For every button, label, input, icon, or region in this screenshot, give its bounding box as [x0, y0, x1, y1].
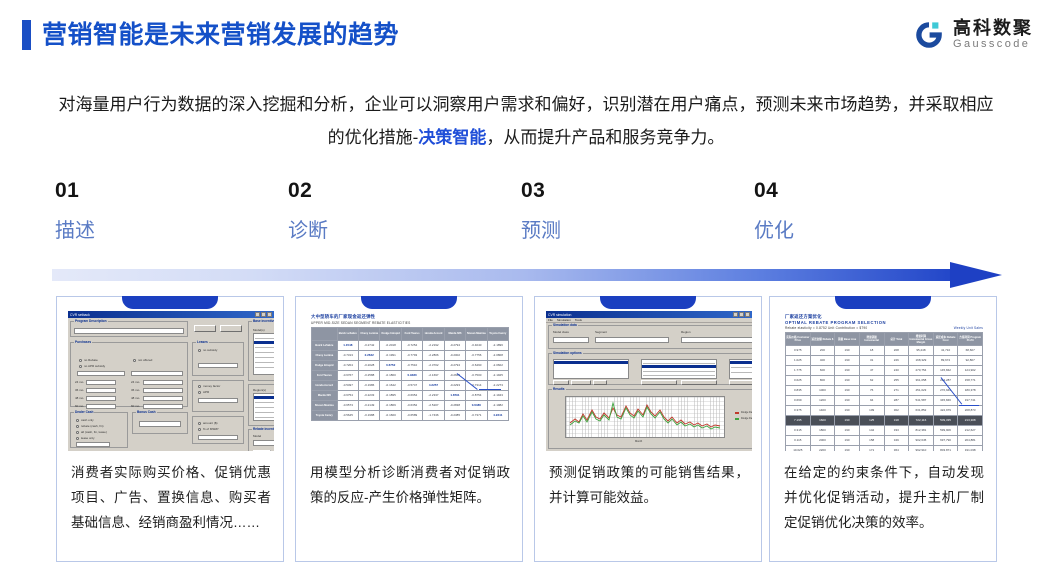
group-title: Purchases [74, 340, 92, 344]
group-title: Leases [196, 340, 209, 344]
group-title: Bonus Cash [136, 410, 157, 414]
table-row: 1.02540019031226168,32989,67292,807 [786, 355, 983, 365]
step-04: 04 优化 [754, 178, 964, 245]
card-optimize[interactable]: 厂家返还方案优化 OPTIMAL REBATE PROGRAM SELECTIO… [769, 296, 997, 562]
table-row: 0.3751400190109302631,852422,979208,873 [786, 405, 983, 415]
step-number: 03 [521, 178, 731, 204]
group-title: Program Description [74, 319, 108, 323]
step-label: 预测 [521, 217, 731, 245]
table-row: 0.1152000190158349902,645697,790204,881 [786, 435, 983, 445]
card-caption: 用模型分析诊断消费者对促销政策的反应-产生价格弹性矩阵。 [310, 460, 510, 510]
table-row: 0.9752001901820895,24841,71068,607 [786, 345, 983, 355]
step-number: 04 [754, 178, 964, 204]
step-label: 优化 [754, 217, 964, 245]
table-row: Chevy Lumina-0.73132.2622-0.1991-0.7793-… [312, 350, 509, 360]
group-title: Results [552, 387, 566, 391]
step-labels: 01 描述 02 诊断 03 预测 04 优化 [55, 178, 1000, 253]
title-text: 营销智能是未来营销发展的趋势 [42, 20, 399, 50]
logo-text-en: Gausscode [953, 38, 1033, 51]
screenshot-optimal-rebate: 厂家返还方案优化 OPTIMAL REBATE PROGRAM SELECTIO… [781, 311, 987, 451]
window-title: CVR setback [70, 313, 90, 317]
card-predict[interactable]: CVR simulation File Simulation Tools Sim… [534, 296, 762, 562]
intro-line-2b: ，从而提升产品和服务竞争力。 [486, 128, 724, 147]
card-row: CVR setback Program Description [0, 296, 1051, 564]
table-row: Buick LeSabre1.1548-0.2742-0.2018-0.7254… [312, 340, 509, 350]
legend-swatch-est [735, 412, 739, 414]
annotation-line [959, 405, 979, 406]
group-title: Base incentives [252, 319, 274, 323]
step-label: 描述 [55, 217, 265, 245]
menu-file[interactable]: File [548, 318, 553, 322]
table-row: Mazda 626-0.6754-0.2233-0.1895-0.6954-2.… [312, 390, 509, 400]
step-01: 01 描述 [55, 178, 265, 245]
slide-header: 营销智能是未来营销发展的趋势 高科数聚 Gausscode [0, 0, 1051, 68]
screenshot-dialog: CVR setback Program Description [68, 311, 274, 451]
group-title: Simulation data [552, 323, 578, 327]
arrow-head-icon [950, 262, 1002, 288]
menu-tools[interactable]: Tools [575, 318, 582, 322]
table-row: Toyota Camry-0.5645-0.1988-0.1660-0.6589… [312, 410, 509, 420]
step-label: 诊断 [288, 217, 498, 245]
title-accent-bar [22, 20, 31, 50]
card-caption: 在给定的约束条件下，自动发现并优化促销活动，提升主机厂制定促销优化决策的效率。 [784, 460, 984, 535]
table-row: Dodge Intrepid-0.7204-0.20280.6752-0.751… [312, 360, 509, 370]
step-number: 01 [55, 178, 265, 204]
annotation-line [479, 389, 501, 390]
step-03: 03 预测 [521, 178, 731, 245]
brand-logo: 高科数聚 Gausscode [912, 18, 1033, 52]
card-tab [122, 296, 218, 309]
card-caption: 消费者实际购买价格、促销优惠项目、广告、置换信息、购买者基础信息、经销商盈利情况… [71, 460, 271, 535]
optimal-table: 实际价格 Customer Price返还金额 Rebate $销量 Base … [785, 332, 983, 452]
screenshot-simulation: CVR simulation File Simulation Tools Sim… [546, 311, 752, 451]
table-row: 10.0252200190171364992,910803,871191,038 [786, 445, 983, 451]
step-number: 02 [288, 178, 498, 204]
card-tab [600, 296, 696, 309]
card-tab [835, 296, 931, 309]
intro-paragraph: 对海量用户行为数据的深入挖掘和分析，企业可以洞察用户需求和偏好，识别潜在用户痛点… [52, 88, 1000, 154]
table-row: 1.77560019047240270,754145,842124,902 [786, 365, 983, 375]
table-row: 0.62580019062255361,058204,287158,771 [786, 375, 983, 385]
menu-simulation[interactable]: Simulation [557, 318, 571, 322]
legend-swatch-actual [735, 418, 739, 420]
gausscode-g-icon [912, 18, 946, 52]
window-title: CVR simulation [548, 313, 571, 317]
step-02: 02 诊断 [288, 178, 498, 245]
arrow-shaft [52, 269, 957, 281]
logo-text-cn: 高科数聚 [953, 19, 1033, 38]
card-tab [361, 296, 457, 309]
matrix-title-cn: 大中型轿车的厂家现金返还弹性 [311, 314, 509, 320]
table-row: 0.669120019094287541,587345,846197,741 [786, 395, 983, 405]
card-describe[interactable]: CVR setback Program Description [56, 296, 284, 562]
group-title: Dealer Cash [74, 410, 94, 414]
legend-label-actual: Dodge Dakota actual [741, 417, 752, 420]
table-row: Ford Taurus-0.6767-0.2588-0.18600.9480-2… [312, 370, 509, 380]
elasticity-table: Buick LeSabreChevy LuminaDodge IntrepidF… [311, 327, 509, 421]
group-title: Simulation options [552, 351, 583, 355]
card-diagnose[interactable]: 大中型轿车的厂家现金返还弹性 UPPER MID-SIZE SEDAN SEGM… [295, 296, 523, 562]
page-title: 营销智能是未来营销发展的趋势 [22, 20, 399, 50]
slide: 营销智能是未来营销发展的趋势 高科数聚 Gausscode 对海量用户行为数据的… [0, 0, 1051, 586]
table-row: 0.3151800190142333812,381599,906212,627 [786, 425, 983, 435]
table-row: Nissan Maxima-0.6573-0.2149-0.1869-0.635… [312, 400, 509, 410]
card-caption: 预测促销政策的可能销售结果，并计算可能效益。 [549, 460, 749, 510]
group-title: Rebate incentives [252, 427, 274, 431]
table-row: 7.1951600190125318722,116509,335213,308 [786, 415, 983, 425]
optimal-corner-note: Weekly Unit Sales [954, 326, 983, 330]
screenshot-elasticity-matrix: 大中型轿车的厂家现金返还弹性 UPPER MID-SIZE SEDAN SEGM… [307, 311, 513, 451]
matrix-title-en: UPPER MID-SIZE SEDAN SEGMENT REBATE ELAS… [311, 321, 509, 325]
legend-label-est: Dodge Dakota est [741, 411, 752, 414]
intro-highlight: 决策智能 [418, 128, 486, 147]
process-arrow [52, 262, 1002, 292]
intro-line-1: 对海量用户行为数据的深入挖掘和分析，企业可以洞察用户需求和偏好，识别潜在用户痛点… [59, 95, 756, 114]
optimal-subline: Rebate elasticity = 0.8752 Unit Contribu… [785, 326, 867, 330]
